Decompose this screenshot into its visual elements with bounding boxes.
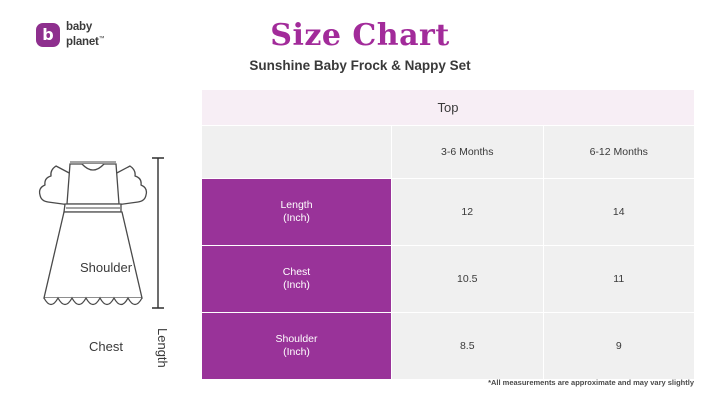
cell-length-6-12: 14 — [543, 179, 695, 246]
row-label-shoulder-name: Shoulder — [203, 333, 390, 346]
group-header-cell: Top — [202, 90, 695, 126]
row-label-shoulder: Shoulder (Inch) — [202, 313, 392, 380]
row-label-length: Length (Inch) — [202, 179, 392, 246]
footnote: *All measurements are approximate and ma… — [488, 378, 694, 387]
row-label-length-unit: (Inch) — [203, 212, 390, 225]
row-label-chest-unit: (Inch) — [203, 279, 390, 292]
label-length: Length — [155, 328, 170, 368]
label-chest: Chest — [89, 339, 123, 354]
row-label-shoulder-unit: (Inch) — [203, 346, 390, 359]
column-header-1: 6-12 Months — [543, 126, 695, 179]
row-label-chest-name: Chest — [203, 266, 390, 279]
row-label-chest: Chest (Inch) — [202, 246, 392, 313]
cell-shoulder-6-12: 9 — [543, 313, 695, 380]
cell-chest-6-12: 11 — [543, 246, 695, 313]
corner-cell — [202, 126, 392, 179]
cell-chest-3-6: 10.5 — [392, 246, 544, 313]
size-chart-table: Top 3-6 Months 6-12 Months Length (Inch)… — [201, 89, 695, 380]
row-label-length-name: Length — [203, 199, 390, 212]
table-row: Length (Inch) 12 14 — [202, 179, 695, 246]
page-subtitle: Sunshine Baby Frock & Nappy Set — [0, 58, 720, 73]
page-title: Size Chart — [0, 18, 720, 53]
table-row-column-headers: 3-6 Months 6-12 Months — [202, 126, 695, 179]
cell-shoulder-3-6: 8.5 — [392, 313, 544, 380]
cell-length-3-6: 12 — [392, 179, 544, 246]
frock-illustration: Shoulder Chest Length — [18, 128, 193, 340]
table-row: Chest (Inch) 10.5 11 — [202, 246, 695, 313]
table-row-group-header: Top — [202, 90, 695, 126]
column-header-0: 3-6 Months — [392, 126, 544, 179]
table-row: Shoulder (Inch) 8.5 9 — [202, 313, 695, 380]
label-shoulder: Shoulder — [80, 260, 132, 275]
